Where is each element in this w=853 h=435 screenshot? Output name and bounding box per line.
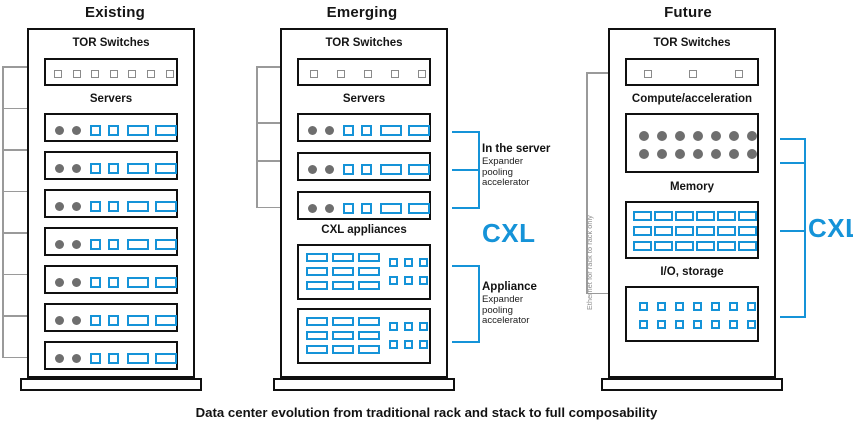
io-port-icon — [639, 302, 648, 311]
cxl-port-icon — [419, 340, 428, 349]
cxl-group-sub-accelerator-2: accelerator — [482, 316, 529, 327]
compute-dot-icon — [729, 131, 739, 141]
memory-module-icon — [738, 211, 757, 221]
cxl-group-sub-expander-2: Expander — [482, 295, 523, 306]
cxl-port-icon — [343, 164, 354, 175]
memory-module-icon — [717, 241, 736, 251]
cpu-dot-icon — [55, 164, 64, 173]
tor-port-icon — [128, 70, 136, 78]
appliance-row — [297, 244, 431, 300]
cpu-dot-icon — [55, 240, 64, 249]
cxl-port-icon — [389, 258, 398, 267]
cxl-port-icon — [389, 322, 398, 331]
section-label-future-tor: TOR Switches — [608, 37, 776, 49]
compute-dot-icon — [639, 131, 649, 141]
cxl-module-icon — [155, 163, 177, 174]
cxl-module-icon — [332, 267, 354, 276]
compute-dot-icon — [657, 149, 667, 159]
io-port-icon — [675, 320, 684, 329]
cxl-group-title-in-the-server: In the server — [482, 143, 550, 155]
cxl-port-icon — [389, 276, 398, 285]
memory-module-icon — [675, 211, 694, 221]
tor-port-icon — [735, 70, 743, 78]
cxl-module-icon — [127, 315, 149, 326]
section-label-future-io: I/O, storage — [608, 266, 776, 278]
cxl-port-icon — [108, 163, 119, 174]
compute-dot-icon — [639, 149, 649, 159]
cxl-port-icon — [90, 353, 101, 364]
cxl-port-icon — [90, 277, 101, 288]
cxl-module-icon — [332, 281, 354, 290]
tor-bay-existing — [44, 58, 178, 86]
tor-port-icon — [337, 70, 345, 78]
memory-module-icon — [717, 211, 736, 221]
compute-dot-icon — [693, 131, 703, 141]
diagram-canvas: Existing TOR Switches Servers — [0, 0, 853, 435]
cxl-module-icon — [358, 267, 380, 276]
server-row — [44, 189, 178, 218]
tor-port-icon — [364, 70, 372, 78]
cxl-port-icon — [90, 315, 101, 326]
cxl-module-icon — [408, 164, 430, 175]
memory-module-icon — [633, 211, 652, 221]
cxl-module-icon — [332, 253, 354, 262]
io-port-icon — [639, 320, 648, 329]
cxl-port-icon — [361, 125, 372, 136]
cpu-dot-icon — [325, 204, 334, 213]
cxl-port-icon — [108, 353, 119, 364]
tor-port-icon — [54, 70, 62, 78]
figure-caption: Data center evolution from traditional r… — [0, 405, 853, 420]
cxl-port-icon — [108, 125, 119, 136]
appliance-row — [297, 308, 431, 364]
compute-dot-icon — [711, 149, 721, 159]
tor-port-icon — [689, 70, 697, 78]
rack-base-emerging — [273, 378, 455, 391]
cxl-port-icon — [108, 277, 119, 288]
compute-dot-icon — [657, 131, 667, 141]
cxl-group-sub-expander-1: Expander — [482, 157, 523, 168]
cxl-port-icon — [343, 203, 354, 214]
cxl-module-icon — [155, 315, 177, 326]
server-row — [297, 152, 431, 181]
cxl-label-emerging: CXL — [482, 218, 536, 249]
tor-port-icon — [73, 70, 81, 78]
compute-dot-icon — [747, 131, 757, 141]
compute-dot-icon — [675, 131, 685, 141]
io-port-icon — [711, 320, 720, 329]
tor-port-icon — [310, 70, 318, 78]
server-row — [44, 341, 178, 370]
cxl-module-icon — [127, 277, 149, 288]
cxl-port-icon — [404, 276, 413, 285]
io-port-icon — [693, 320, 702, 329]
memory-module-icon — [633, 241, 652, 251]
tor-port-icon — [166, 70, 174, 78]
cxl-module-icon — [306, 331, 328, 340]
io-port-icon — [657, 320, 666, 329]
cxl-module-icon — [127, 125, 149, 136]
cpu-dot-icon — [72, 316, 81, 325]
section-label-existing-servers: Servers — [27, 93, 195, 105]
cxl-module-icon — [358, 331, 380, 340]
cxl-module-icon — [155, 125, 177, 136]
cxl-port-icon — [90, 239, 101, 250]
tor-port-icon — [110, 70, 118, 78]
memory-module-icon — [675, 226, 694, 236]
cxl-module-icon — [358, 281, 380, 290]
cxl-module-icon — [306, 281, 328, 290]
column-title-emerging: Emerging — [282, 4, 442, 21]
section-label-emerging-tor: TOR Switches — [280, 37, 448, 49]
memory-bay-future — [625, 201, 759, 259]
io-port-icon — [657, 302, 666, 311]
section-label-existing-tor: TOR Switches — [27, 37, 195, 49]
ethernet-note-label: Ethernet for rack to rack only — [585, 215, 594, 310]
column-title-existing: Existing — [35, 4, 195, 21]
cpu-dot-icon — [308, 204, 317, 213]
compute-dot-icon — [729, 149, 739, 159]
cxl-port-icon — [361, 203, 372, 214]
cxl-module-icon — [408, 125, 430, 136]
cxl-port-icon — [389, 340, 398, 349]
cpu-dot-icon — [55, 278, 64, 287]
memory-module-icon — [633, 226, 652, 236]
io-port-icon — [729, 302, 738, 311]
cxl-module-icon — [332, 317, 354, 326]
section-label-emerging-servers: Servers — [280, 93, 448, 105]
cxl-port-icon — [90, 201, 101, 212]
compute-bay-future — [625, 113, 759, 173]
rack-base-future — [601, 378, 783, 391]
memory-module-icon — [738, 226, 757, 236]
cpu-dot-icon — [55, 126, 64, 135]
cxl-bracket-emerging — [452, 131, 480, 343]
cxl-port-icon — [108, 239, 119, 250]
cxl-module-icon — [127, 239, 149, 250]
io-bay-future — [625, 286, 759, 342]
io-port-icon — [675, 302, 684, 311]
cxl-module-icon — [332, 331, 354, 340]
tor-port-icon — [418, 70, 426, 78]
cxl-module-icon — [358, 345, 380, 354]
cpu-dot-icon — [55, 316, 64, 325]
cxl-module-icon — [155, 277, 177, 288]
cxl-port-icon — [361, 164, 372, 175]
server-row — [44, 227, 178, 256]
compute-dot-icon — [747, 149, 757, 159]
memory-module-icon — [738, 241, 757, 251]
io-port-icon — [693, 302, 702, 311]
memory-module-icon — [717, 226, 736, 236]
cxl-module-icon — [306, 345, 328, 354]
cxl-module-icon — [155, 201, 177, 212]
cxl-port-icon — [90, 125, 101, 136]
cpu-dot-icon — [72, 202, 81, 211]
cxl-module-icon — [155, 353, 177, 364]
cpu-dot-icon — [72, 278, 81, 287]
cxl-port-icon — [404, 258, 413, 267]
cxl-bracket-future — [780, 138, 806, 318]
cxl-module-icon — [332, 345, 354, 354]
cxl-port-icon — [343, 125, 354, 136]
cxl-module-icon — [358, 317, 380, 326]
memory-module-icon — [654, 211, 673, 221]
tor-port-icon — [391, 70, 399, 78]
tor-port-icon — [644, 70, 652, 78]
cxl-module-icon — [306, 267, 328, 276]
tor-bay-future — [625, 58, 759, 86]
memory-module-icon — [696, 211, 715, 221]
cxl-module-icon — [380, 164, 402, 175]
cxl-port-icon — [419, 322, 428, 331]
cpu-dot-icon — [55, 202, 64, 211]
cpu-dot-icon — [72, 126, 81, 135]
memory-module-icon — [654, 241, 673, 251]
cxl-port-icon — [419, 258, 428, 267]
cxl-port-icon — [90, 163, 101, 174]
cpu-dot-icon — [72, 354, 81, 363]
cxl-port-icon — [404, 322, 413, 331]
cxl-group-sub-accelerator-1: accelerator — [482, 178, 529, 189]
memory-module-icon — [675, 241, 694, 251]
cxl-module-icon — [155, 239, 177, 250]
cxl-port-icon — [108, 201, 119, 212]
cxl-port-icon — [404, 340, 413, 349]
server-row — [297, 113, 431, 142]
cxl-module-icon — [408, 203, 430, 214]
io-port-icon — [747, 320, 756, 329]
rack-base-existing — [20, 378, 202, 391]
server-row — [44, 303, 178, 332]
server-row — [297, 191, 431, 220]
cxl-module-icon — [127, 353, 149, 364]
column-title-future: Future — [608, 4, 768, 21]
cxl-module-icon — [306, 317, 328, 326]
section-label-future-compute: Compute/acceleration — [608, 93, 776, 105]
tor-port-icon — [91, 70, 99, 78]
server-row — [44, 113, 178, 142]
cpu-dot-icon — [325, 165, 334, 174]
server-row — [44, 151, 178, 180]
tor-port-icon — [147, 70, 155, 78]
compute-dot-icon — [711, 131, 721, 141]
cxl-module-icon — [127, 163, 149, 174]
io-port-icon — [711, 302, 720, 311]
cpu-dot-icon — [325, 126, 334, 135]
cxl-port-icon — [419, 276, 428, 285]
memory-module-icon — [696, 241, 715, 251]
cxl-label-future: CXL — [808, 213, 853, 244]
memory-module-icon — [696, 226, 715, 236]
cxl-module-icon — [380, 203, 402, 214]
cpu-dot-icon — [55, 354, 64, 363]
cxl-module-icon — [127, 201, 149, 212]
cxl-port-icon — [108, 315, 119, 326]
cpu-dot-icon — [308, 165, 317, 174]
compute-dot-icon — [675, 149, 685, 159]
compute-dot-icon — [693, 149, 703, 159]
section-label-future-memory: Memory — [608, 181, 776, 193]
memory-module-icon — [654, 226, 673, 236]
io-port-icon — [729, 320, 738, 329]
cpu-dot-icon — [308, 126, 317, 135]
cpu-dot-icon — [72, 240, 81, 249]
section-label-emerging-appliances: CXL appliances — [280, 224, 448, 236]
cxl-module-icon — [380, 125, 402, 136]
cxl-module-icon — [358, 253, 380, 262]
io-port-icon — [747, 302, 756, 311]
cxl-module-icon — [306, 253, 328, 262]
tor-bay-emerging — [297, 58, 431, 86]
server-row — [44, 265, 178, 294]
cxl-group-title-appliance: Appliance — [482, 281, 537, 293]
cpu-dot-icon — [72, 164, 81, 173]
